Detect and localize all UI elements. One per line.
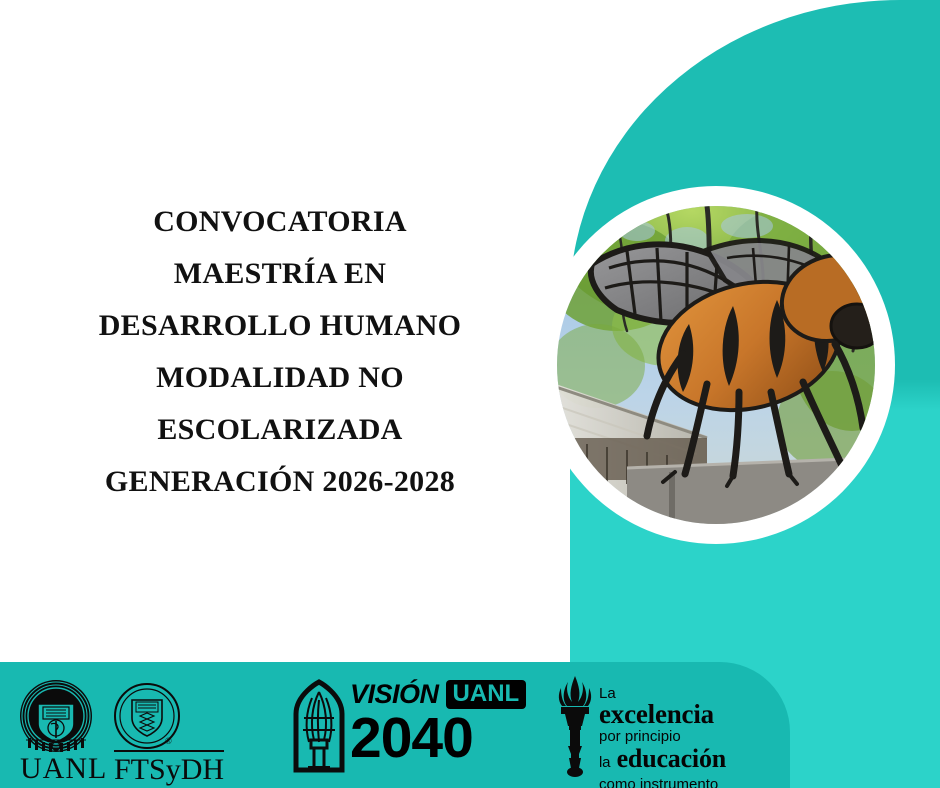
excelencia-line-4: la educación <box>599 745 726 776</box>
torch-arch-icon <box>292 678 346 779</box>
vision-2040-logo: VISIÓN UANL 2040 <box>292 678 522 778</box>
vision-uanl-badge: UANL <box>446 680 527 709</box>
bee-sculpture-photo <box>557 206 875 524</box>
poster-headline: CONVOCATORIA MAESTRÍA EN DESARROLLO HUMA… <box>20 196 540 508</box>
vision-year: 2040 <box>350 711 526 765</box>
headline-line-5: ESCOLARIZADA <box>20 404 540 456</box>
uanl-wordmark: UANL <box>20 752 107 786</box>
excelencia-line-2: excelencia <box>599 701 726 728</box>
uanl-logo-group: ® UANL FTSyDH <box>14 678 204 782</box>
ftsydh-wordmark: FTSyDH <box>114 750 224 787</box>
excelencia-line-4-small: la <box>599 754 610 771</box>
headline-line-1: CONVOCATORIA <box>20 196 540 248</box>
vision-word: VISIÓN <box>350 681 439 708</box>
excelencia-logo: La excelencia por principio la educación… <box>553 674 773 784</box>
poster-canvas: CONVOCATORIA MAESTRÍA EN DESARROLLO HUMA… <box>0 0 940 788</box>
excelencia-line-3: por principio <box>599 728 726 745</box>
footer-logos: ® UANL FTSyDH <box>0 662 940 788</box>
headline-line-6: GENERACIÓN 2026-2028 <box>20 456 540 508</box>
excelencia-line-5: como instrumento <box>599 776 726 788</box>
torch-icon <box>553 674 597 783</box>
headline-line-3: DESARROLLO HUMANO <box>20 300 540 352</box>
headline-line-2: MAESTRÍA EN <box>20 248 540 300</box>
excelencia-line-4-big: educación <box>617 744 726 773</box>
svg-text:®: ® <box>165 736 172 746</box>
ftsydh-seal-icon: ® <box>110 682 184 754</box>
headline-line-4: MODALIDAD NO <box>20 352 540 404</box>
uanl-seal-icon <box>18 678 94 754</box>
